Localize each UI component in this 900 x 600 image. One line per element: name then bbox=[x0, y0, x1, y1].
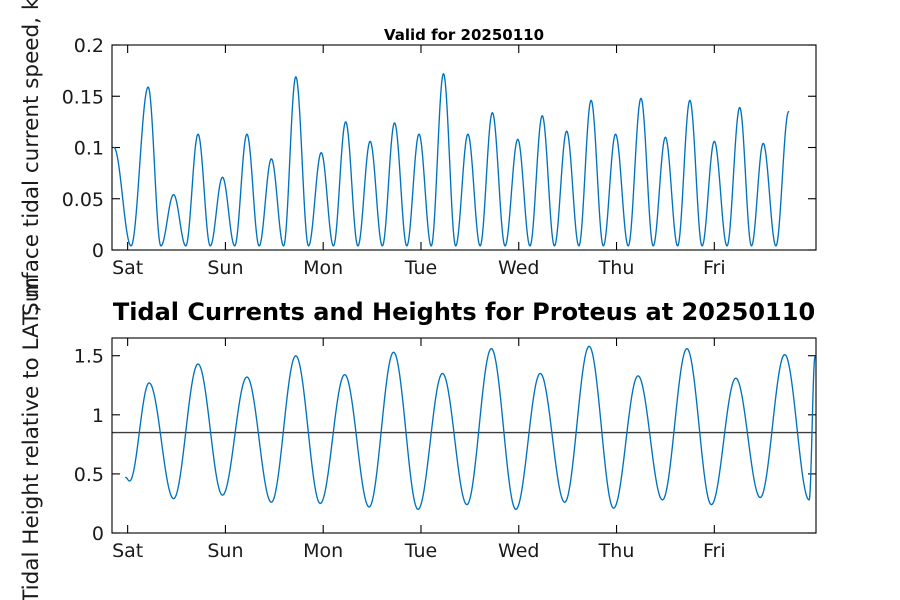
x-tick-label: Thu bbox=[598, 257, 635, 279]
y-axis-label-height: Tidal Height relative to LAT, m bbox=[19, 277, 44, 600]
x-tick-label: Tue bbox=[404, 257, 437, 279]
x-tick-label: Fri bbox=[703, 540, 726, 562]
plot-frame-current bbox=[112, 45, 816, 250]
x-tick-label: Sat bbox=[112, 540, 143, 562]
y-tick-label: 0.2 bbox=[74, 35, 104, 57]
subplot-current-speed: Valid for 20250110 Surface tidal current… bbox=[19, 0, 816, 316]
y-tick-label: 1.5 bbox=[74, 346, 104, 368]
x-tick-label: Wed bbox=[498, 257, 539, 279]
page-title: Tidal Currents and Heights for Proteus a… bbox=[113, 298, 815, 326]
y-tick-label: 0.15 bbox=[62, 86, 104, 108]
x-tick-label: Fri bbox=[703, 257, 726, 279]
y-tick-label: 0 bbox=[92, 240, 104, 262]
x-axis-ticks-current: SatSunMonTueWedThuFri bbox=[112, 45, 726, 279]
x-tick-label: Sat bbox=[112, 257, 143, 279]
x-tick-label: Wed bbox=[498, 540, 539, 562]
tidal-height-curve bbox=[126, 346, 815, 509]
current-speed-curve bbox=[114, 74, 789, 246]
x-tick-label: Sun bbox=[207, 540, 243, 562]
x-tick-label: Mon bbox=[303, 540, 343, 562]
tidal-figure: Valid for 20250110 Surface tidal current… bbox=[0, 0, 900, 600]
x-axis-ticks-height: SatSunMonTueWedThuFri bbox=[112, 338, 726, 562]
y-tick-label: 0.05 bbox=[62, 189, 104, 211]
x-tick-label: Tue bbox=[404, 540, 437, 562]
x-tick-label: Thu bbox=[598, 540, 635, 562]
y-tick-label: 0 bbox=[92, 523, 104, 545]
x-tick-label: Sun bbox=[207, 257, 243, 279]
x-tick-label: Mon bbox=[303, 257, 343, 279]
y-tick-label: 0.1 bbox=[74, 138, 104, 160]
y-axis-label-current: Surface tidal current speed, kn bbox=[19, 0, 44, 316]
subplot-title-current: Valid for 20250110 bbox=[384, 26, 544, 44]
y-tick-label: 0.5 bbox=[74, 464, 104, 486]
y-axis-ticks-current: 00.050.10.150.2 bbox=[62, 35, 816, 262]
y-tick-label: 1 bbox=[92, 405, 104, 427]
